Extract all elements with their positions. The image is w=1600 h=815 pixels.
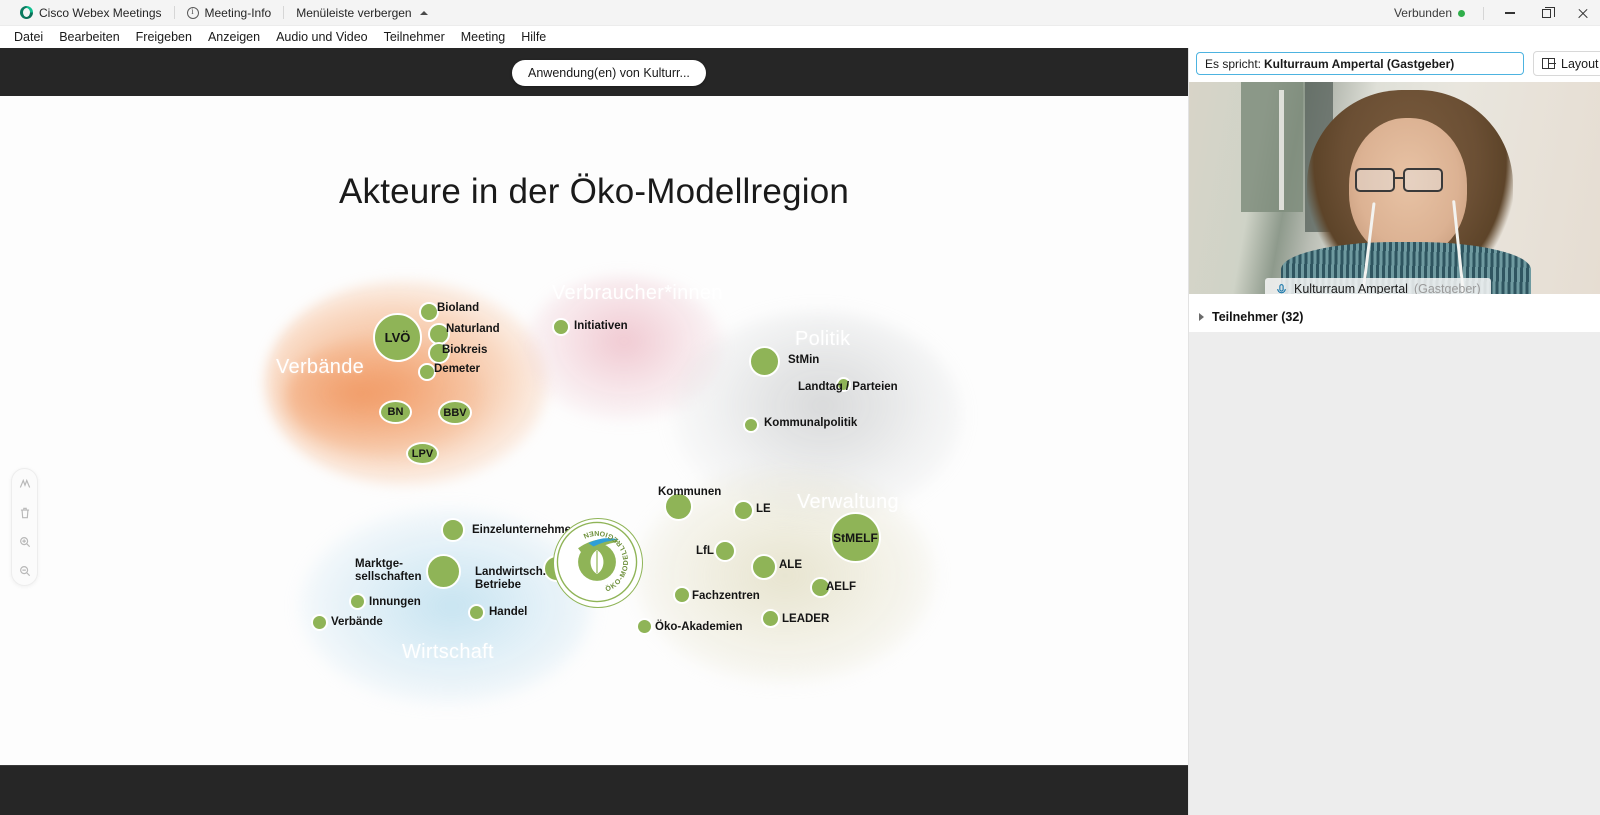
active-speaker-name: Kulturraum Ampertal (Gastgeber) <box>1264 57 1454 71</box>
node-verbaende-wirtschaft-dot[interactable] <box>311 614 328 631</box>
node-label-leader: LEADER <box>782 613 829 626</box>
minimize-button[interactable] <box>1492 0 1528 26</box>
node-label-ale: ALE <box>779 559 802 572</box>
node-label-oeko-akademien: Öko-Akademien <box>655 621 743 634</box>
node-label-bioland: Bioland <box>437 302 479 315</box>
title-bar: Cisco Webex Meetings Meeting-Info Menüle… <box>0 0 1600 26</box>
node-lpv[interactable]: LPV <box>406 442 439 465</box>
node-label-innungen: Innungen <box>369 596 421 609</box>
menu-item-meeting[interactable]: Meeting <box>453 26 513 48</box>
node-le-dot[interactable] <box>733 500 754 521</box>
oeko-modellregionen-logo: ÖKO-MODELLREGIONEN <box>553 518 643 608</box>
shared-application-pill[interactable]: Anwendung(en) von Kulturr... <box>512 60 706 86</box>
menu-item-anzeigen[interactable]: Anzeigen <box>200 26 268 48</box>
menu-label: Anzeigen <box>208 30 260 44</box>
menu-item-datei[interactable]: Datei <box>6 26 51 48</box>
video-tile-active-speaker[interactable]: Kulturraum Ampertal (Gastgeber) <box>1189 82 1600 294</box>
menu-label: Bearbeiten <box>59 30 119 44</box>
meeting-controls-bar <box>0 765 1188 815</box>
node-leader-dot[interactable] <box>761 609 780 628</box>
node-label-marktgesellschaften: Marktge-sellschaften <box>355 558 421 584</box>
node-label-initiativen: Initiativen <box>574 320 628 333</box>
node-kommunalpolitik-dot[interactable] <box>743 417 759 433</box>
participants-section-header[interactable]: Teilnehmer (32) <box>1189 302 1600 332</box>
node-ale-dot[interactable] <box>751 554 777 580</box>
node-label: LVÖ <box>385 330 411 345</box>
menu-label: Meeting <box>461 30 505 44</box>
title-bar-left-group: Cisco Webex Meetings Meeting-Info Menüle… <box>0 0 440 26</box>
menu-item-teilnehmer[interactable]: Teilnehmer <box>376 26 453 48</box>
status-dot-icon <box>1458 10 1465 17</box>
node-label-aelf: AELF <box>826 581 856 594</box>
node-label-biokreis: Biokreis <box>442 344 487 357</box>
cluster-label-verwaltung: Verwaltung <box>797 491 899 514</box>
active-speaker-field[interactable]: Es spricht: Kulturraum Ampertal (Gastgeb… <box>1196 52 1524 75</box>
node-label-handel: Handel <box>489 606 527 619</box>
cluster-label-wirtschaft: Wirtschaft <box>402 641 494 664</box>
node-label-landtag-parteien: Landtag / Parteien <box>798 381 898 394</box>
shared-content-canvas: Akteure in der Öko-Modellregion Verbände… <box>0 96 1188 765</box>
node-label-kommunalpolitik: Kommunalpolitik <box>764 417 857 430</box>
node-label: BN <box>388 406 404 418</box>
info-icon <box>187 7 199 19</box>
layout-button-label: Layout <box>1561 57 1599 71</box>
layout-button[interactable]: Layout <box>1533 51 1600 76</box>
menu-label: Hilfe <box>521 30 546 44</box>
shared-application-label: Anwendung(en) von Kulturr... <box>528 66 690 80</box>
layout-grid-icon <box>1542 58 1555 69</box>
node-label: StMELF <box>833 531 878 545</box>
minimize-icon <box>1505 12 1515 13</box>
menu-item-bearbeiten[interactable]: Bearbeiten <box>51 26 127 48</box>
node-label-landwirtsch-betriebe: Landwirtsch.Betriebe <box>475 566 546 592</box>
node-lvoe[interactable]: LVÖ <box>373 313 422 362</box>
node-label-verbaende-wirtschaft: Verbände <box>331 616 383 629</box>
menu-label: Teilnehmer <box>384 30 445 44</box>
node-label: BBV <box>443 407 466 419</box>
app-title-label: Cisco Webex Meetings <box>39 6 162 20</box>
video-person-glasses-left <box>1355 168 1395 192</box>
node-label-naturland: Naturland <box>446 323 500 336</box>
connection-status-label: Verbunden <box>1394 6 1452 20</box>
hide-menubar-button[interactable]: Menüleiste verbergen <box>284 0 439 26</box>
node-label-lfl: LfL <box>696 545 714 558</box>
node-label-kommunen: Kommunen <box>658 486 721 499</box>
hide-menubar-label: Menüleiste verbergen <box>296 6 411 20</box>
restore-icon <box>1542 9 1551 18</box>
video-person-glasses-right <box>1403 168 1443 192</box>
cluster-label-verbraucher: Verbraucher*innen <box>552 282 723 305</box>
microphone-icon <box>1275 283 1288 295</box>
meeting-info-button[interactable]: Meeting-Info <box>175 0 284 26</box>
node-bioland-dot[interactable] <box>419 302 439 322</box>
menu-item-hilfe[interactable]: Hilfe <box>513 26 554 48</box>
menu-item-audio-und-video[interactable]: Audio und Video <box>268 26 376 48</box>
right-side-panel: Es spricht: Kulturraum Ampertal (Gastgeb… <box>1188 48 1600 815</box>
app-title: Cisco Webex Meetings <box>8 0 174 26</box>
participants-label: Teilnehmer (32) <box>1212 310 1303 324</box>
title-bar-right-group: Verbunden <box>1394 0 1600 26</box>
menu-item-freigeben[interactable]: Freigeben <box>128 26 200 48</box>
webex-logo-icon <box>20 6 33 19</box>
node-stmin-dot[interactable] <box>749 346 780 377</box>
divider <box>1483 7 1484 20</box>
maximize-button[interactable] <box>1528 0 1564 26</box>
node-label-line2: sellschaften <box>355 571 421 583</box>
active-speaker-prefix: Es spricht: <box>1205 57 1261 71</box>
node-einzelunternehmen-dot[interactable] <box>441 518 465 542</box>
video-person-glasses-bridge <box>1395 177 1405 179</box>
node-handel-dot[interactable] <box>468 604 485 621</box>
video-host-tag: (Gastgeber) <box>1414 282 1481 294</box>
node-bn[interactable]: BN <box>379 400 412 424</box>
node-stmelf[interactable]: StMELF <box>830 512 881 563</box>
video-name-chip: Kulturraum Ampertal (Gastgeber) <box>1265 278 1491 294</box>
video-name-label: Kulturraum Ampertal <box>1294 282 1408 294</box>
menu-label: Audio und Video <box>276 30 368 44</box>
node-lfl-dot[interactable] <box>714 540 736 562</box>
close-icon <box>1577 8 1587 18</box>
video-background-door <box>1241 82 1303 212</box>
participants-list-body <box>1189 332 1600 815</box>
node-label-line2: Betriebe <box>475 579 521 591</box>
cluster-label-politik: Politik <box>795 328 850 351</box>
node-label-le: LE <box>756 503 771 516</box>
meeting-info-label: Meeting-Info <box>205 6 272 20</box>
node-label-fachzentren: Fachzentren <box>692 590 760 603</box>
menu-label: Freigeben <box>136 30 192 44</box>
node-marktgesellschaften-dot[interactable] <box>426 554 461 589</box>
node-fachzentren-dot[interactable] <box>673 586 691 604</box>
node-label-stmin: StMin <box>788 354 819 367</box>
stakeholder-diagram: Verbände Verbraucher*innen Politik Wirts… <box>0 96 1188 765</box>
node-label-line1: Landwirtsch. <box>475 566 546 578</box>
cluster-label-verbaende: Verbände <box>276 356 364 379</box>
webex-meeting-window: Cisco Webex Meetings Meeting-Info Menüle… <box>0 0 1600 815</box>
menu-label: Datei <box>14 30 43 44</box>
node-label-line1: Marktge- <box>355 558 403 570</box>
chevron-right-icon <box>1199 313 1204 321</box>
node-label: LPV <box>412 448 433 460</box>
node-oeko-akademien-dot[interactable] <box>636 618 653 635</box>
chevron-up-icon <box>420 11 428 15</box>
close-button[interactable] <box>1564 0 1600 26</box>
node-bbv[interactable]: BBV <box>438 400 472 425</box>
menu-bar: Datei Bearbeiten Freigeben Anzeigen Audi… <box>0 26 1600 48</box>
node-innungen-dot[interactable] <box>349 593 366 610</box>
connection-status: Verbunden <box>1394 6 1475 20</box>
node-initiativen-dot[interactable] <box>552 318 570 336</box>
node-label-demeter: Demeter <box>434 363 480 376</box>
video-background-frame <box>1279 90 1284 210</box>
